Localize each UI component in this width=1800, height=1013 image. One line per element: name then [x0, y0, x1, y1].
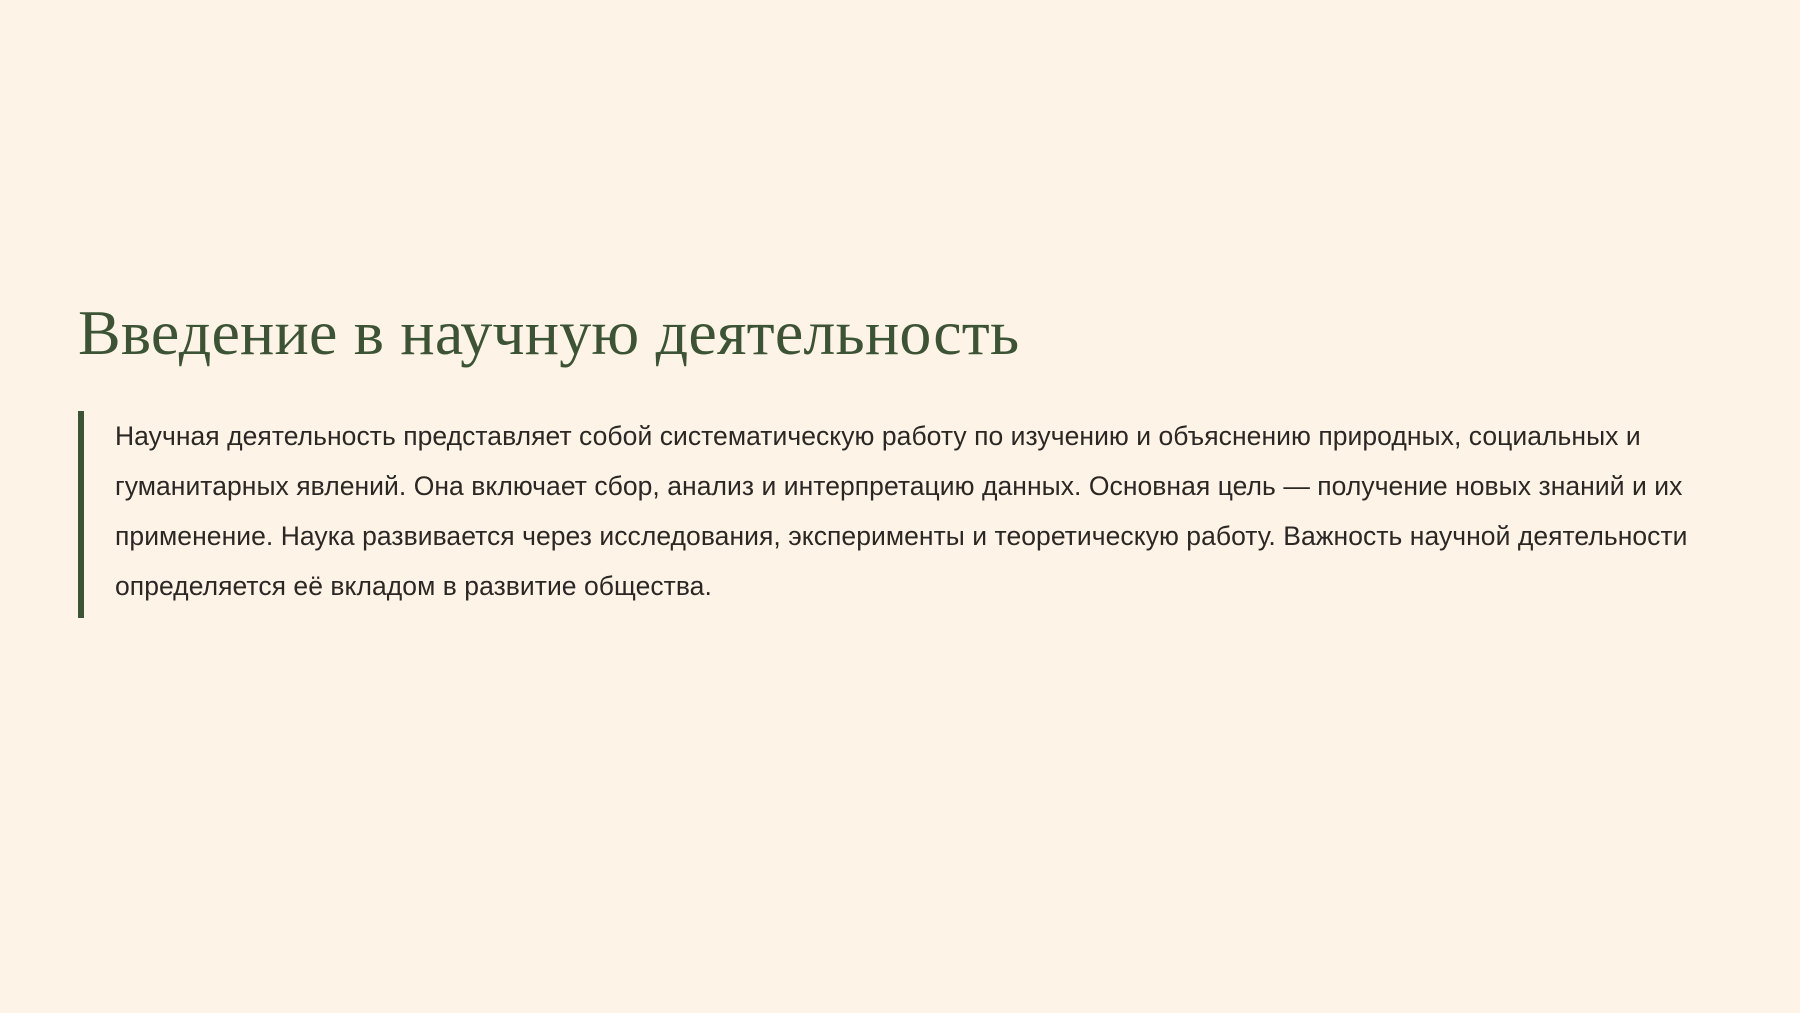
slide-canvas: Введение в научную деятельность Научная …: [0, 0, 1800, 1013]
page-title: Введение в научную деятельность: [78, 298, 1718, 367]
quote-block: Научная деятельность представляет собой …: [78, 411, 1718, 611]
slide-content: Введение в научную деятельность Научная …: [78, 298, 1718, 611]
body-paragraph: Научная деятельность представляет собой …: [115, 411, 1693, 611]
accent-bar: [78, 411, 84, 618]
